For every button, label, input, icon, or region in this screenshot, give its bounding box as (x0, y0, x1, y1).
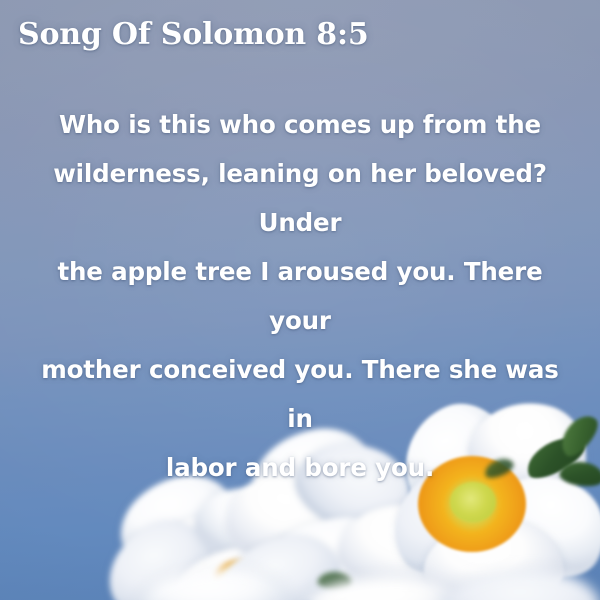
verse-line: labor and bore you. (28, 443, 572, 492)
verse-line: mother conceived you. There she was in (28, 345, 572, 443)
verse-line: wilderness, leaning on her beloved? Unde… (28, 149, 572, 247)
verse-image-card: Song Of Solomon 8:5 Who is this who come… (0, 0, 600, 600)
verse-line: Who is this who comes up from the (28, 100, 572, 149)
verse-reference-title: Song Of Solomon 8:5 (18, 18, 369, 53)
verse-line: the apple tree I aroused you. There your (28, 247, 572, 345)
verse-text: Who is this who comes up from the wilder… (28, 100, 572, 492)
